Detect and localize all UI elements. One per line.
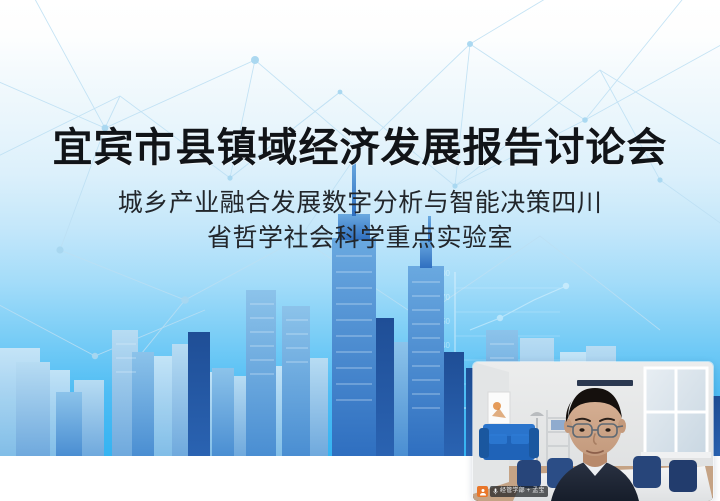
participant-video-feed	[473, 362, 713, 501]
mic-icon	[493, 488, 498, 495]
host-icon	[477, 486, 488, 497]
participant-video-tile[interactable]: 经管学部 + 孟宝	[473, 362, 713, 501]
name-chip: 经管学部 + 孟宝	[490, 486, 548, 497]
participant-name-label: 经管学部 + 孟宝	[500, 486, 545, 497]
participant-name-badge: 经管学部 + 孟宝	[477, 486, 548, 497]
